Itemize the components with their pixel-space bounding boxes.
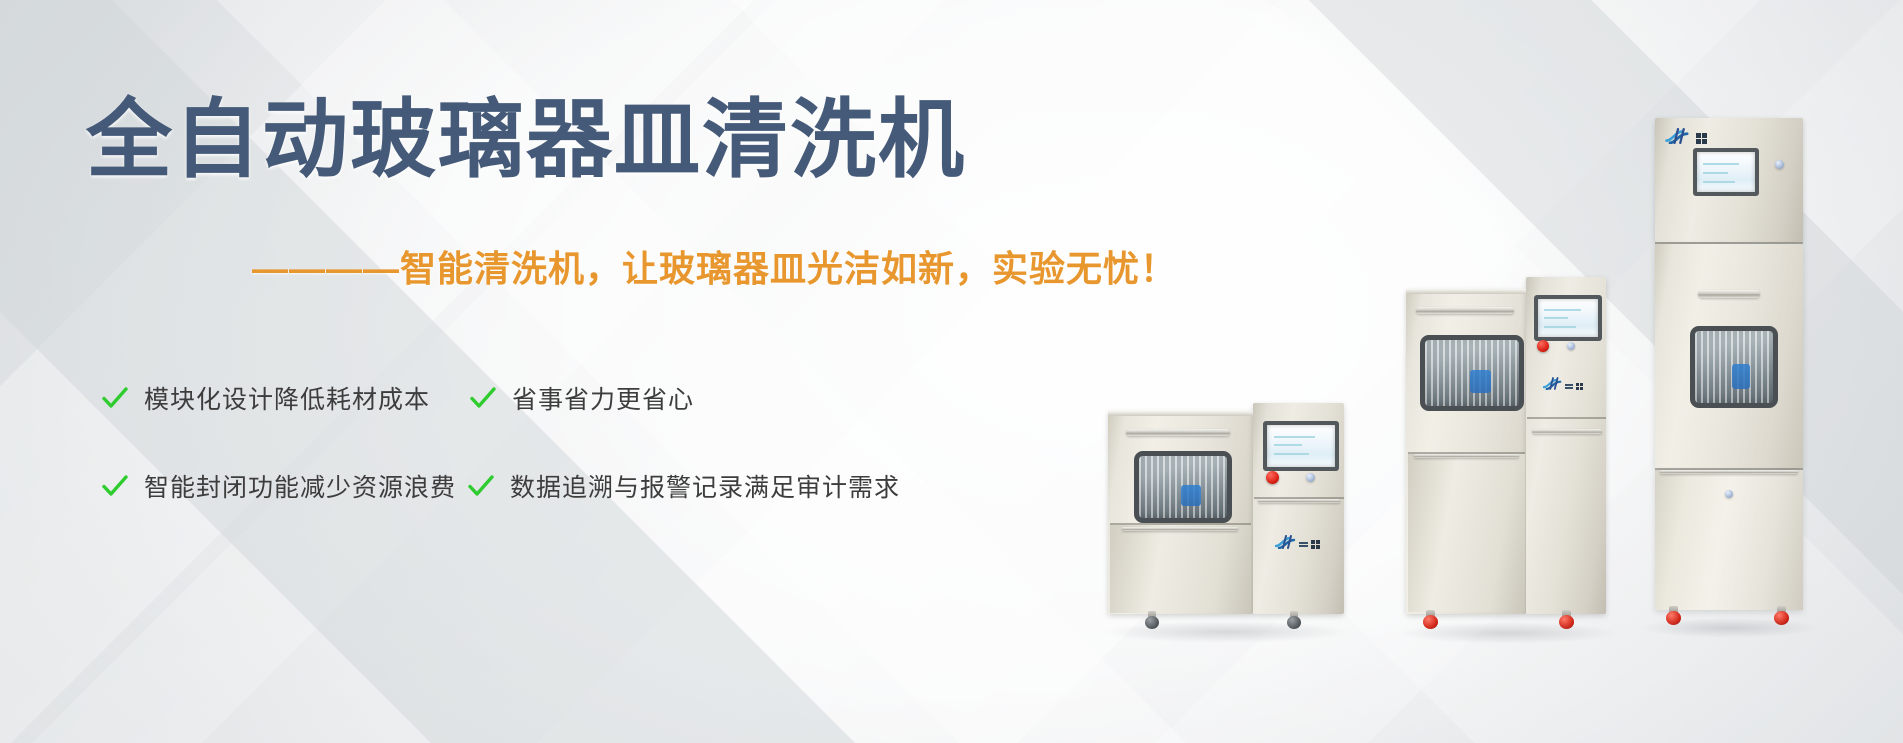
product-image-group xyxy=(0,0,1903,743)
glassware-washer-compact xyxy=(1406,277,1606,622)
emergency-stop-button[interactable] xyxy=(1537,340,1549,352)
product-hero-banner: 全自动玻璃器皿清洗机 ————智能清洗机，让玻璃器皿光洁如新，实验无忧！ 模块化… xyxy=(0,0,1903,743)
glassware-washer-tall-cabinet xyxy=(1655,118,1803,623)
door-handle xyxy=(1126,429,1230,436)
power-indicator-button[interactable] xyxy=(1306,473,1315,482)
power-indicator-button[interactable] xyxy=(1775,160,1784,169)
chamber-window xyxy=(1690,326,1778,408)
power-indicator-button[interactable] xyxy=(1567,342,1575,350)
lock-button[interactable] xyxy=(1725,490,1733,498)
brand-logo-icon xyxy=(1665,128,1707,149)
control-touchscreen[interactable] xyxy=(1263,421,1339,471)
brand-logo-icon xyxy=(1543,377,1583,395)
emergency-stop-button[interactable] xyxy=(1266,471,1279,484)
chamber-window xyxy=(1134,451,1232,523)
chamber-window xyxy=(1420,335,1524,411)
glassware-rack xyxy=(1695,331,1773,403)
control-touchscreen[interactable] xyxy=(1693,148,1759,196)
door-handle xyxy=(1698,290,1760,298)
glassware-washer-front-loading xyxy=(1108,403,1344,623)
door-handle xyxy=(1416,307,1514,314)
glassware-rack xyxy=(1139,456,1227,518)
glassware-rack xyxy=(1425,340,1519,406)
control-touchscreen[interactable] xyxy=(1534,295,1602,341)
brand-logo-icon xyxy=(1275,535,1320,554)
